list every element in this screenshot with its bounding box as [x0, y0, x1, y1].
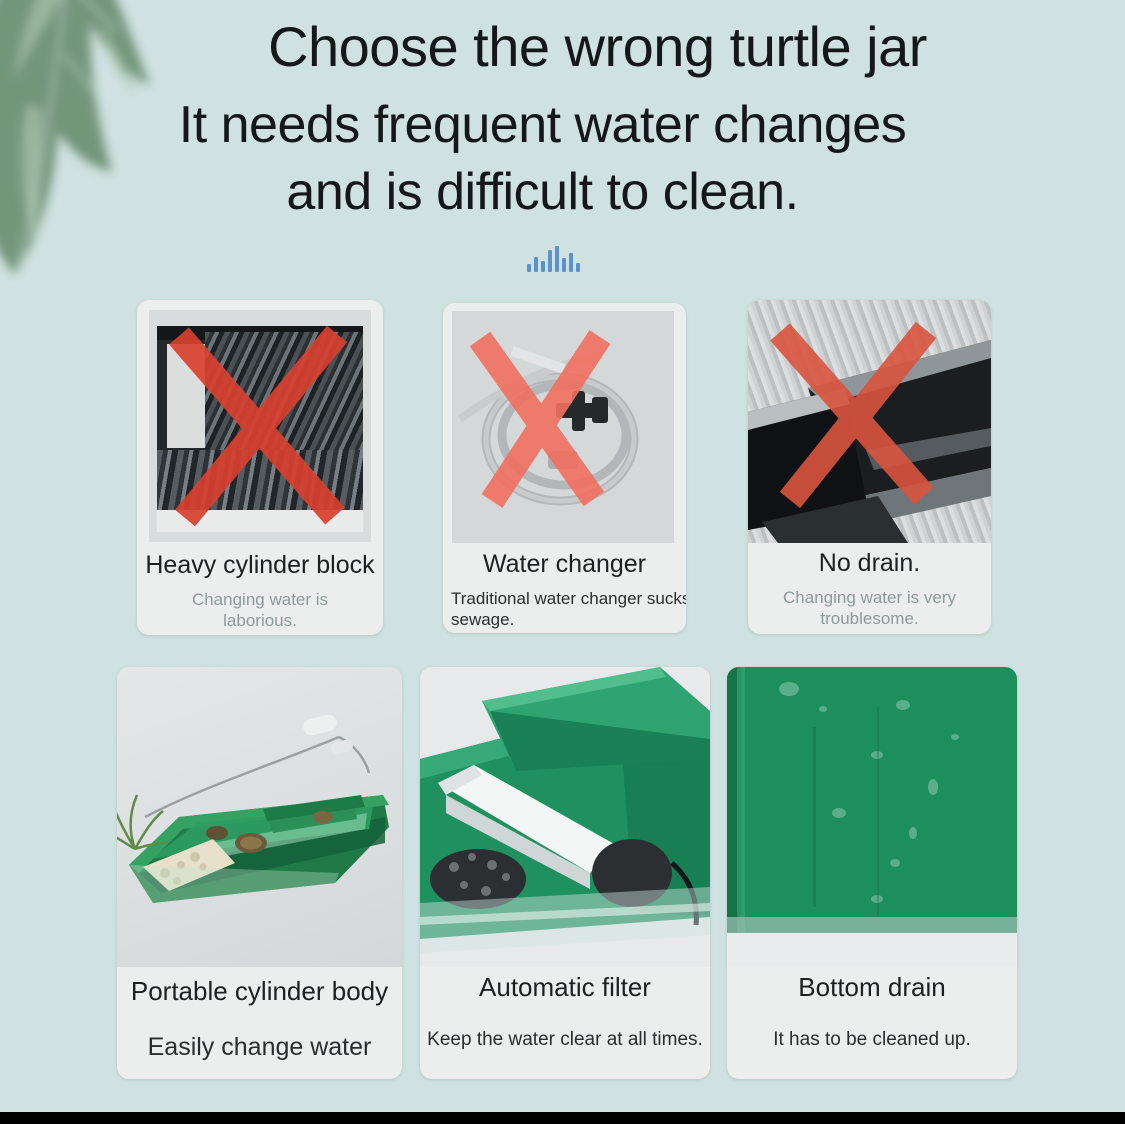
infographic-canvas: Choose the wrong turtle jar It needs fre… [0, 0, 1125, 1124]
card-portable-cylinder-body[interactable]: Portable cylinder body Easily change wat… [117, 667, 402, 1079]
card-title: No drain. [748, 550, 991, 578]
green-panel-with-water-droplets-photo [727, 667, 1017, 967]
headline-line-2b: and is difficult to clean. [0, 159, 1085, 226]
headline-line-2: It needs frequent water changes and is d… [0, 92, 1125, 225]
card-subtitle: Changing water is very troublesome. [748, 587, 991, 630]
card-caption: Automatic filter Keep the water clear at… [420, 973, 710, 1051]
card-automatic-filter[interactable]: Automatic filter Keep the water clear at… [420, 667, 710, 1079]
empty-dark-tank-interior-photo [748, 300, 991, 543]
card-bottom-drain[interactable]: Bottom drain It has to be cleaned up. [727, 667, 1017, 1079]
aquarium-tank-with-gravel-photo [149, 310, 371, 542]
red-x-mark-icon [452, 311, 674, 543]
bottom-black-bar [0, 1112, 1125, 1124]
headline: Choose the wrong turtle jar It needs fre… [0, 18, 1125, 225]
card-title: Portable cylinder body [117, 977, 402, 1006]
card-title: Water changer [443, 551, 686, 579]
card-title: Automatic filter [420, 973, 710, 1002]
siphon-hose-coil-photo [452, 311, 674, 543]
headline-line-2a: It needs frequent water changes [0, 92, 1085, 159]
card-water-changer[interactable]: Water changer Traditional water changer … [443, 303, 686, 633]
green-filter-compartment-closeup-photo [420, 667, 710, 967]
card-caption: Heavy cylinder block Changing water is l… [137, 552, 383, 631]
red-x-mark-icon [748, 300, 991, 543]
card-subtitle: Changing water is laborious. [137, 589, 383, 632]
card-subtitle: Keep the water clear at all times. [420, 1028, 710, 1052]
card-subtitle: Traditional water changer sucks sewage. [443, 588, 686, 631]
card-title: Bottom drain [727, 973, 1017, 1002]
card-title: Heavy cylinder block [137, 552, 383, 580]
headline-line-1: Choose the wrong turtle jar [0, 18, 1125, 76]
card-caption: No drain. Changing water is very trouble… [748, 550, 991, 629]
audio-wave-watermark-icon [527, 242, 587, 272]
card-subtitle: It has to be cleaned up. [727, 1028, 1017, 1052]
card-caption: Portable cylinder body Easily change wat… [117, 977, 402, 1063]
red-x-mark-icon [149, 310, 371, 542]
green-turtle-tank-with-handle-photo [117, 667, 402, 967]
card-heavy-cylinder-block[interactable]: Heavy cylinder block Changing water is l… [137, 300, 383, 635]
card-caption: Water changer Traditional water changer … [443, 551, 686, 630]
card-caption: Bottom drain It has to be cleaned up. [727, 973, 1017, 1051]
card-subtitle: Easily change water [117, 1032, 402, 1063]
card-no-drain[interactable]: No drain. Changing water is very trouble… [748, 300, 991, 634]
